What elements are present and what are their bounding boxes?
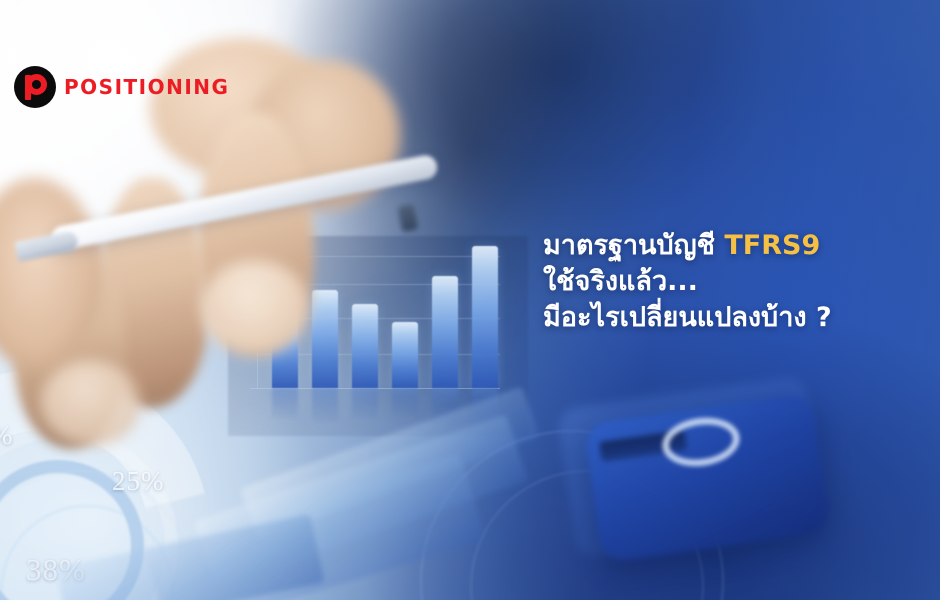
headline-line-3: มีอะไรเปลี่ยนแปลงบ้าง ? xyxy=(543,300,933,336)
fingernail-index xyxy=(200,260,310,356)
headline-line-1: มาตรฐานบัญชี TFRS9 xyxy=(543,228,933,264)
logo-p-dot xyxy=(32,80,41,89)
headline-line-1-main: มาตรฐานบัญชี xyxy=(543,230,724,261)
brand-wordmark: POSITIONING xyxy=(64,77,229,97)
headline-block: มาตรฐานบัญชี TFRS9 ใช้จริงแล้ว... มีอะไร… xyxy=(543,228,933,337)
positioning-p-circle-logo-icon xyxy=(14,66,56,108)
headline-accent-tfrs9: TFRS9 xyxy=(724,230,820,261)
stylus-pen-band xyxy=(398,204,419,233)
promotional-banner: % 25% 38% xyxy=(0,0,940,600)
brand-logo[interactable]: POSITIONING xyxy=(14,66,229,108)
headline-line-2: ใช้จริงแล้ว... xyxy=(543,264,933,300)
fingernail-ring xyxy=(40,360,140,446)
